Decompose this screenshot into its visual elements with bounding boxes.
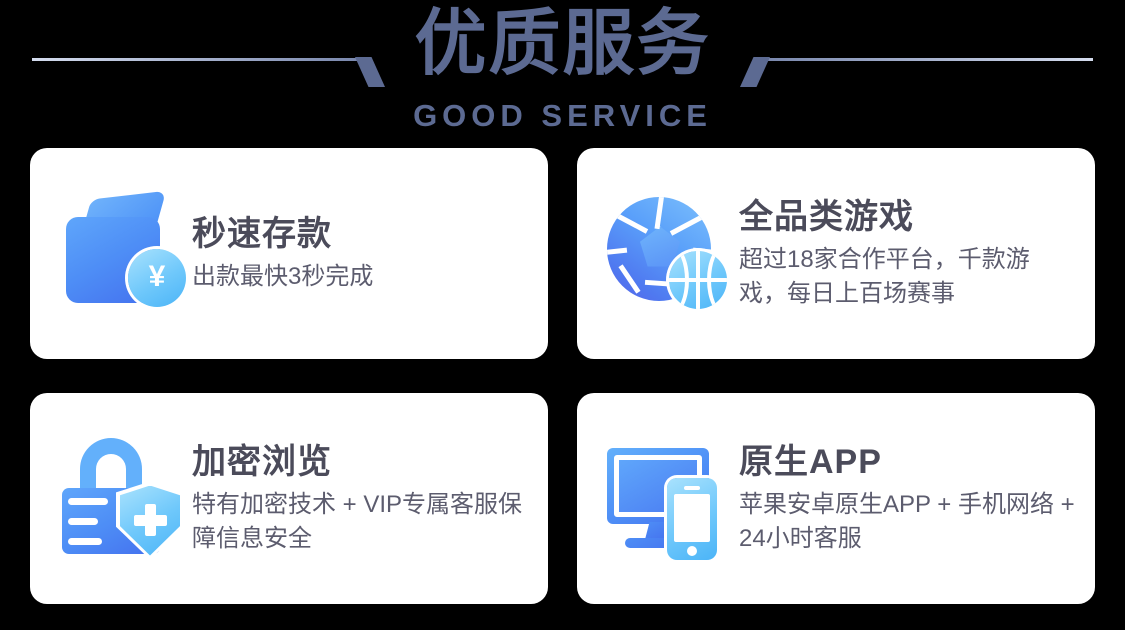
- card-text-block: 秒速存款 出款最快3秒完成: [192, 214, 387, 293]
- yen-symbol: ¥: [149, 262, 166, 292]
- basketball-arc: [669, 251, 689, 309]
- soccer-seam: [618, 264, 640, 293]
- soccer-seam: [655, 197, 665, 229]
- padlock-icon: [58, 436, 184, 562]
- phone-screen-icon: [674, 494, 710, 542]
- card-subtitle: 特有加密技术 + VIP专属客服保障信息安全: [192, 488, 530, 554]
- feature-card-grid: ¥ 秒速存款 出款最快3秒完成: [30, 148, 1095, 608]
- phone-home-button-icon: [687, 546, 697, 556]
- feature-card-native-app[interactable]: 原生APP 苹果安卓原生APP + 手机网络 + 24小时客服: [577, 393, 1095, 604]
- card-text-block: 原生APP 苹果安卓原生APP + 手机网络 + 24小时客服: [739, 442, 1091, 554]
- feature-card-deposit[interactable]: ¥ 秒速存款 出款最快3秒完成: [30, 148, 548, 359]
- monitor-icon: [605, 436, 731, 562]
- feature-card-encryption[interactable]: 加密浏览 特有加密技术 + VIP专属客服保障信息安全: [30, 393, 548, 604]
- padlock-slot: [68, 518, 98, 525]
- basketball-icon: [669, 251, 727, 309]
- wallet-icon: ¥: [58, 191, 184, 317]
- padlock-slot: [68, 498, 108, 505]
- banner-header: 优质服务 GOOD SERVICE: [0, 0, 1125, 146]
- banner-title-cn: 优质服务: [0, 6, 1125, 84]
- soccer-seam: [670, 215, 702, 235]
- smartphone-icon: [667, 478, 717, 560]
- soccer-ball-icon: [605, 191, 731, 317]
- card-subtitle: 出款最快3秒完成: [192, 260, 373, 293]
- basketball-arc: [707, 251, 727, 309]
- soccer-seam: [616, 213, 648, 233]
- card-title: 秒速存款: [192, 214, 373, 254]
- padlock-slot: [68, 538, 102, 545]
- card-subtitle: 苹果安卓原生APP + 手机网络 + 24小时客服: [739, 488, 1077, 554]
- yen-coin-icon: ¥: [128, 249, 186, 307]
- card-title: 全品类游戏: [739, 197, 1077, 237]
- card-text-block: 全品类游戏 超过18家合作平台，千款游戏，每日上百场赛事: [739, 197, 1091, 309]
- card-title: 加密浏览: [192, 442, 530, 482]
- promo-banner: 优质服务 GOOD SERVICE ¥ 秒速存款 出款最快3秒完成: [0, 0, 1125, 630]
- card-title: 原生APP: [739, 442, 1077, 482]
- card-text-block: 加密浏览 特有加密技术 + VIP专属客服保障信息安全: [192, 442, 544, 554]
- card-subtitle: 超过18家合作平台，千款游戏，每日上百场赛事: [739, 243, 1077, 309]
- phone-speaker-icon: [684, 486, 700, 490]
- cross-horizontal: [134, 515, 167, 526]
- feature-card-games[interactable]: 全品类游戏 超过18家合作平台，千款游戏，每日上百场赛事: [577, 148, 1095, 359]
- banner-title-en: GOOD SERVICE: [0, 98, 1125, 134]
- soccer-seam: [607, 247, 627, 255]
